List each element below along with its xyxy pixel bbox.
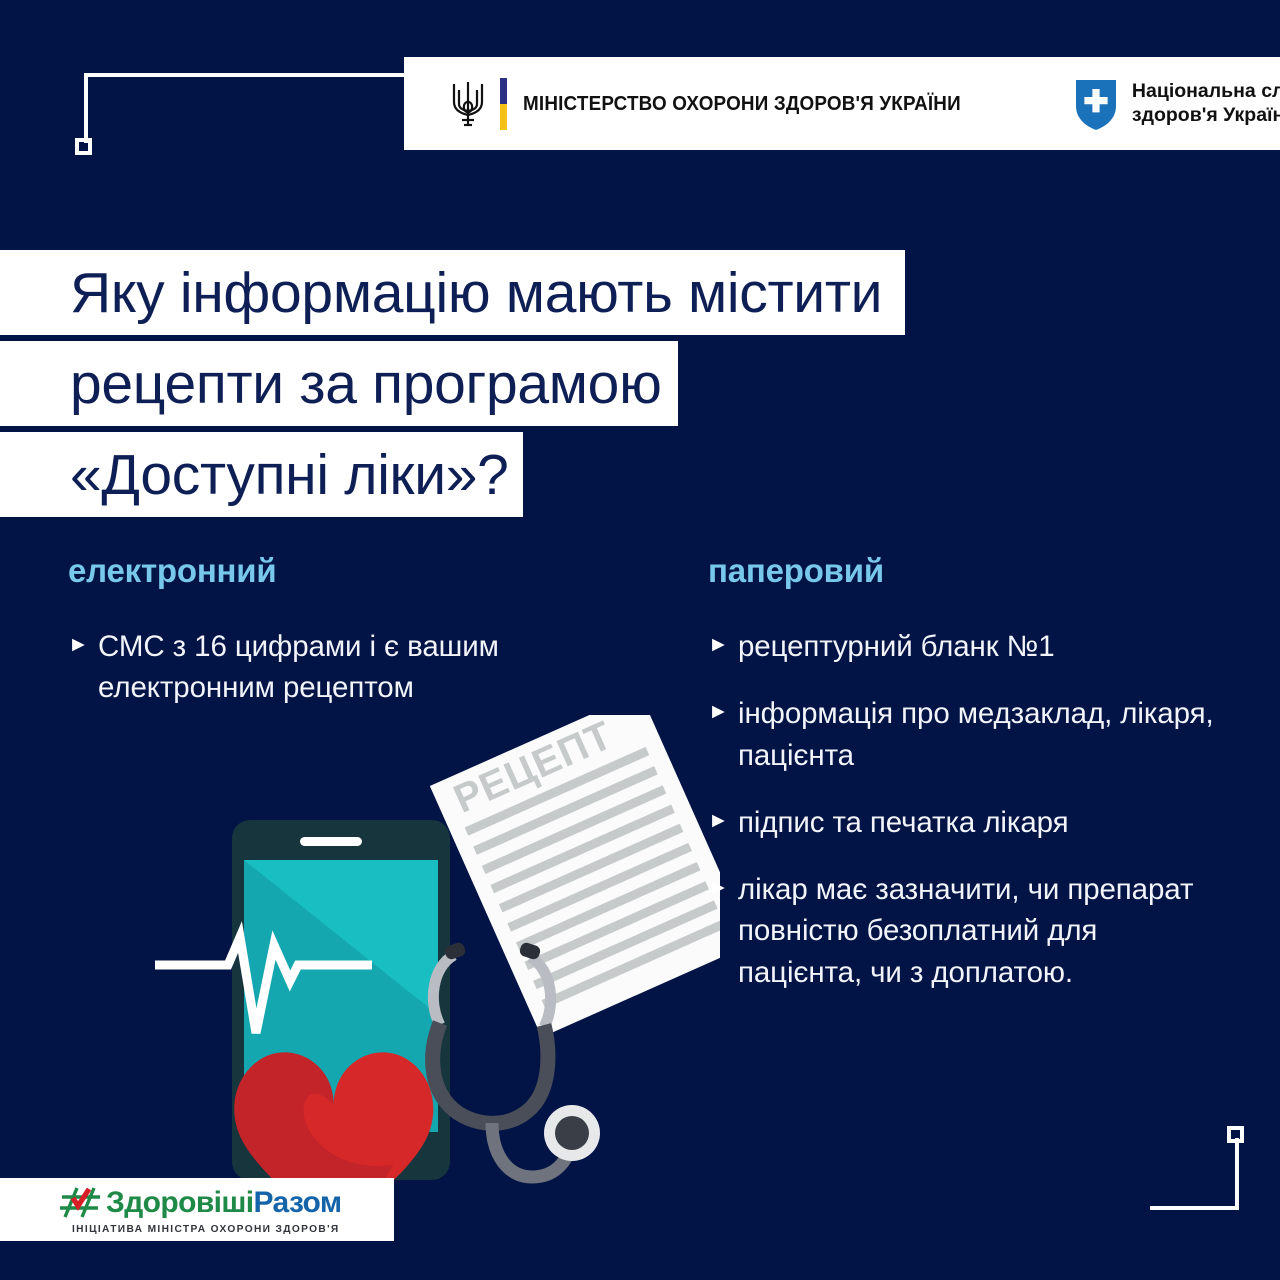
brand-word-razom: Разом [254, 1186, 342, 1219]
list-item-label: підпис та печатка лікаря [738, 802, 1069, 843]
top-left-corner-line-horizontal [84, 73, 424, 77]
list-item: ► інформація про медзаклад, лікаря, паці… [708, 693, 1228, 776]
list-item: ► СМС з 16 цифрами і є вашим електронним… [68, 626, 538, 709]
ministry-name-label: МІНІСТЕРСТВО ОХОРОНИ ЗДОРОВ'Я УКРАЇНИ [523, 92, 961, 116]
bullet-arrow-icon: ► [708, 869, 738, 993]
top-left-corner-line-vertical [84, 73, 88, 143]
bottom-right-corner-square-icon [1227, 1126, 1244, 1143]
page-title-line-3: «Доступні ліки»? [0, 432, 523, 517]
list-item: ► підпис та печатка лікаря [708, 802, 1228, 843]
list-item-label: інформація про медзаклад, лікаря, пацієн… [738, 693, 1228, 776]
zdorovishi-razom-logo-band: ЗдоровішіРазом ІНІЦІАТИВА МІНІСТРА ОХОРО… [0, 1178, 394, 1241]
bottom-right-corner-line-horizontal [1150, 1206, 1239, 1210]
column-paper-heading: паперовий [708, 552, 1228, 590]
column-electronic: електронний ► СМС з 16 цифрами і є вашим… [68, 552, 538, 735]
list-item-label: лікар має зазначити, чи препарат повніст… [738, 869, 1228, 993]
nszu-name-line2: здоров'я України [1132, 104, 1280, 128]
ukraine-trident-emblem-icon [448, 76, 488, 132]
header-logo-band: МІНІСТЕРСТВО ОХОРОНИ ЗДОРОВ'Я УКРАЇНИ На… [404, 57, 1280, 150]
column-electronic-heading: електронний [68, 552, 538, 590]
bottom-right-corner-line-vertical [1235, 1138, 1239, 1210]
list-item: ► рецептурний бланк №1 [708, 626, 1228, 667]
medical-illustration: РЕЦЕПТ [140, 715, 720, 1225]
brand-word-zdorovishi: Здоровіші [106, 1186, 254, 1219]
ukraine-flag-bar-icon [500, 78, 507, 130]
shield-cross-icon [1074, 76, 1118, 132]
page-title-line-2: рецепти за програмою [0, 341, 678, 426]
bullet-arrow-icon: ► [68, 626, 98, 709]
hashtag-check-icon [60, 1185, 104, 1221]
list-item-label: рецептурний бланк №1 [738, 626, 1055, 667]
brand-subtitle: ІНІЦІАТИВА МІНІСТРА ОХОРОНИ ЗДОРОВ'Я [72, 1224, 394, 1235]
bullet-arrow-icon: ► [708, 802, 738, 843]
list-item: ► лікар має зазначити, чи препарат повні… [708, 869, 1228, 993]
list-item-label: СМС з 16 цифрами і є вашим електронним р… [98, 626, 538, 709]
page-title-line-1: Яку інформацію мають містити [0, 250, 905, 335]
bullet-arrow-icon: ► [708, 626, 738, 667]
ministry-of-health-logo: МІНІСТЕРСТВО ОХОРОНИ ЗДОРОВ'Я УКРАЇНИ [448, 76, 999, 132]
bullet-arrow-icon: ► [708, 693, 738, 776]
column-paper: паперовий ► рецептурний бланк №1 ► інфор… [708, 552, 1228, 1019]
nszu-name-line1: Національна служба [1132, 80, 1280, 104]
brand-wordmark: ЗдоровішіРазом [106, 1188, 341, 1218]
page-title: Яку інформацію мають містити рецепти за … [0, 250, 905, 523]
nszu-name-label: Національна служба здоров'я України [1132, 80, 1280, 128]
nszu-logo: Національна служба здоров'я України [1074, 76, 1280, 132]
prescription-paper-illustration: РЕЦЕПТ [430, 715, 720, 1037]
top-left-corner-square-icon [75, 138, 92, 155]
zdorovishi-razom-logo: ЗдоровішіРазом [60, 1185, 394, 1221]
